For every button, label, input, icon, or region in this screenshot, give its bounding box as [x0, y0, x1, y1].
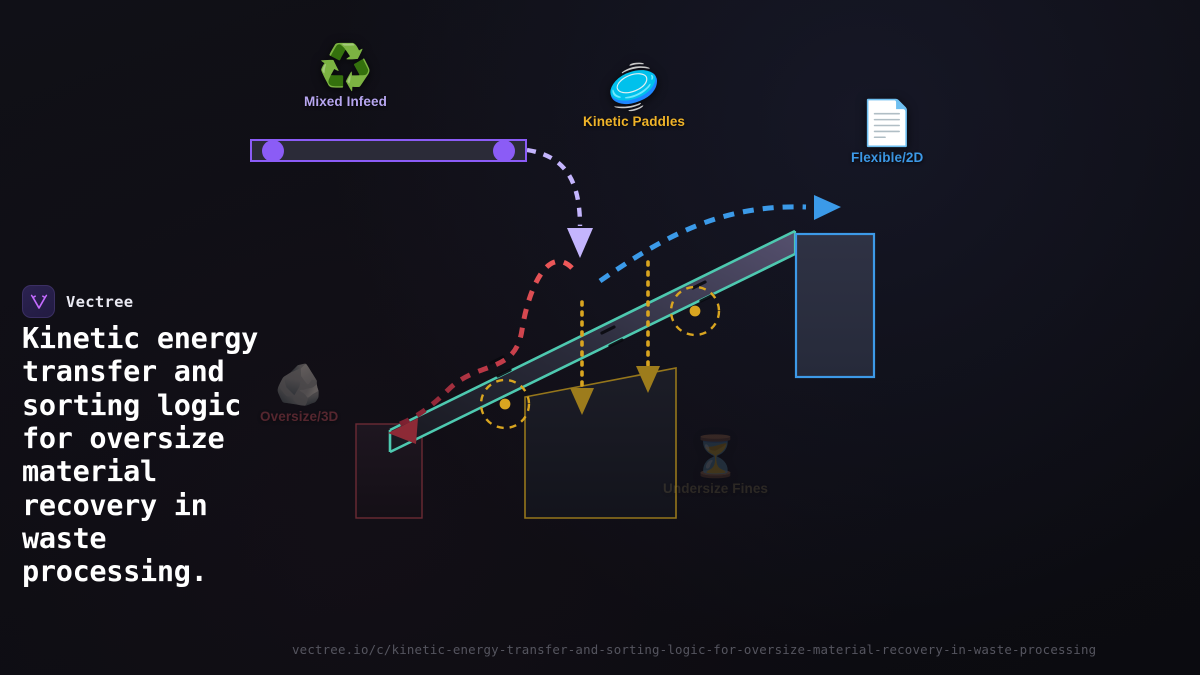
page-title: Kinetic energy transfer and sorting logi… [22, 322, 304, 589]
node-flexible-2d[interactable]: 📄 Flexible/2D [851, 102, 923, 165]
node-label-undersize-fines: Undersize Fines [663, 481, 768, 496]
fines-drop-flow-right [636, 262, 660, 393]
spinning-ball-icon: 🥏 [607, 66, 662, 110]
paddle-lower [481, 380, 529, 428]
brand-name: Vectree [66, 293, 133, 311]
infeed-drop-flow [527, 150, 593, 258]
node-label-flexible-2d: Flexible/2D [851, 150, 923, 165]
brand-block: Vectree [22, 285, 133, 318]
oversize-reject-flow [388, 261, 572, 444]
node-undersize-fines[interactable]: ⏳ Undersize Fines [663, 437, 768, 496]
undersize-fines-hopper [525, 368, 676, 518]
paddle-upper [671, 287, 719, 335]
node-kinetic-paddles[interactable]: 🥏 Kinetic Paddles [583, 66, 685, 129]
flexible-2d-bin [796, 234, 874, 377]
flexible-2d-lift-flow [600, 195, 841, 281]
infeed-handle-right[interactable] [493, 140, 515, 162]
document-icon: 📄 [860, 102, 915, 146]
fines-drop-flow-left [570, 302, 594, 415]
recycle-icon: ♻️ [318, 46, 373, 90]
infeed-handle-left[interactable] [262, 140, 284, 162]
infeed-range-bar[interactable] [250, 139, 527, 162]
node-mixed-infeed[interactable]: ♻️ Mixed Infeed [304, 46, 387, 109]
oversize-3d-bin [356, 424, 422, 518]
source-url: vectree.io/c/kinetic-energy-transfer-and… [292, 642, 1096, 657]
vectree-v-logo-icon[interactable] [22, 285, 55, 318]
diagram-canvas: ♻️ Mixed Infeed 🥏 Kinetic Paddles 📄 Flex… [0, 0, 1200, 675]
inclined-screen-deck [390, 231, 795, 452]
hourglass-icon: ⏳ [691, 437, 741, 477]
node-label-kinetic-paddles: Kinetic Paddles [583, 114, 685, 129]
node-label-mixed-infeed: Mixed Infeed [304, 94, 387, 109]
